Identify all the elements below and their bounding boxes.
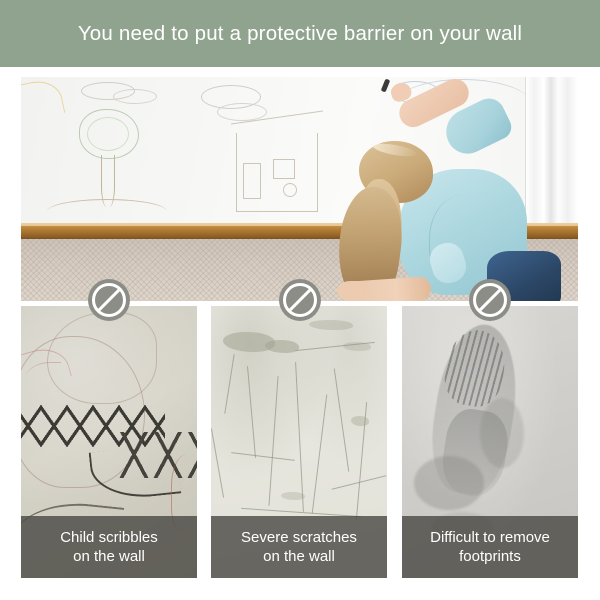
paint-chip	[309, 320, 353, 330]
panel-difficult-footprints[interactable]: Difficult to remove footprints	[402, 306, 578, 578]
panel-severe-scratches[interactable]: Severe scratches on the wall	[211, 306, 387, 578]
caption-line-1: Child scribbles	[60, 529, 158, 546]
dark-swoop-scribble	[89, 444, 182, 503]
prohibited-icon	[88, 279, 130, 321]
wall-scratch	[295, 362, 304, 512]
panel-caption: Difficult to remove footprints	[402, 516, 578, 578]
prohibited-icon	[469, 279, 511, 321]
prohibited-ring	[283, 283, 317, 317]
caption-line-2: on the wall	[73, 548, 145, 565]
wall-scratch	[247, 366, 256, 458]
crayon-house-window	[273, 159, 295, 179]
crayon-sun-rays	[21, 77, 65, 122]
wall-scratch	[312, 394, 328, 513]
panel-caption: Severe scratches on the wall	[211, 516, 387, 578]
caption-line-1: Difficult to remove	[430, 529, 550, 546]
wall-scratch	[211, 428, 224, 497]
crayon-house-door	[243, 163, 261, 199]
panel-caption: Child scribbles on the wall	[21, 516, 197, 578]
prohibited-icon	[279, 279, 321, 321]
wall-scratch	[231, 452, 295, 461]
prohibited-ring	[473, 283, 507, 317]
caption-line-1: Severe scratches	[241, 529, 357, 546]
problem-panels: Child scribbles on the wall	[21, 306, 578, 578]
wall-scratch	[334, 368, 350, 471]
caption-line-2: footprints	[459, 548, 521, 565]
wall-scratch	[224, 354, 235, 413]
hero-photo	[21, 77, 578, 301]
caption-line-2: on the wall	[263, 548, 335, 565]
crayon-flower-drawing	[283, 183, 297, 197]
child-foot	[337, 281, 363, 301]
prohibited-slash	[478, 288, 503, 313]
promo-page: You need to put a protective barrier on …	[0, 0, 600, 600]
wall-smudge	[480, 398, 524, 468]
crayon-tree-foliage	[87, 117, 129, 151]
crayon-tree-roots	[47, 199, 167, 224]
crayon-cloud-drawing	[217, 103, 267, 121]
prohibited-ring	[92, 283, 126, 317]
crayon-cloud-drawing	[113, 89, 157, 104]
prohibited-slash	[97, 288, 122, 313]
wall-scratch	[268, 376, 278, 506]
child-figure	[321, 83, 561, 301]
prohibited-slash	[288, 288, 313, 313]
page-title: You need to put a protective barrier on …	[78, 22, 522, 46]
paint-chip	[265, 340, 299, 353]
panel-child-scribbles[interactable]: Child scribbles on the wall	[21, 306, 197, 578]
header-banner: You need to put a protective barrier on …	[0, 0, 600, 67]
paint-chip	[351, 416, 369, 426]
wall-smudge	[414, 456, 484, 510]
